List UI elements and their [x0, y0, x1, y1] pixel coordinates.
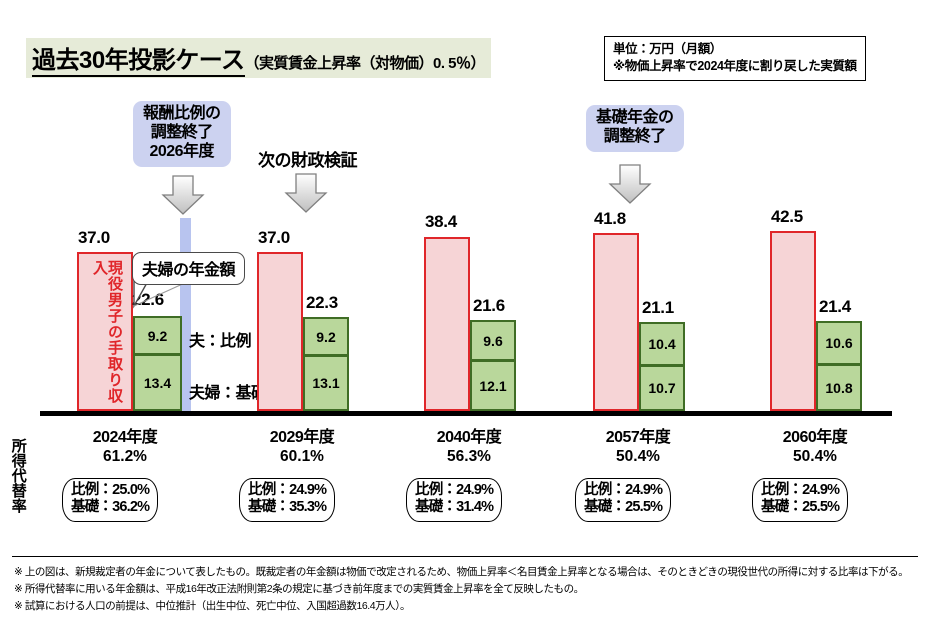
pink-bar-vertical-label: 現役男子の手取り収入: [92, 260, 122, 409]
ratebox-1: 比例：25.0% 基礎：36.2%: [62, 478, 158, 522]
ratebox-hirei-2: 比例：24.9%: [248, 482, 326, 499]
unit-note-box: 単位：万円（月額） ※物価上昇率で2024年度に割り戻した実質額: [604, 36, 866, 81]
bar-stack-1: 9.2 13.4: [133, 316, 182, 411]
callout-houshu-hirei: 報酬比例の 調整終了 2026年度: [133, 101, 231, 167]
chart-baseline: [40, 411, 892, 416]
bar-pink-1: 現役男子の手取り収入: [77, 252, 133, 411]
total-value-3: 21.6: [473, 296, 505, 316]
total-value-4: 21.1: [642, 298, 674, 318]
ratebox-hirei-1: 比例：25.0%: [71, 482, 149, 499]
pink-value-3: 38.4: [425, 212, 457, 232]
legend-upper: 夫：比例: [189, 327, 251, 351]
down-arrow-icon-2: [283, 172, 329, 214]
segment-upper-4: 10.4: [639, 322, 685, 366]
footnote-1: ※ 上の図は、新規裁定者の年金について表したもの。既裁定者の年金額は物価で改定さ…: [14, 564, 920, 581]
xlabel-5: 2060年度: [735, 423, 895, 447]
bar-pink-3: [424, 237, 470, 411]
bar-stack-2: 9.2 13.1: [303, 317, 349, 411]
unit-note-line-1: 単位：万円（月額）: [613, 41, 857, 58]
callout-kiso-nenkin: 基礎年金の 調整終了: [586, 105, 684, 152]
bar-stack-4: 10.4 10.7: [639, 322, 685, 411]
side-label-replacement-rate: 所得代替率: [10, 438, 26, 513]
down-arrow-icon-3: [607, 163, 653, 205]
xlabel-3: 2040年度: [389, 423, 549, 447]
xrate-total-5: 50.4%: [735, 448, 895, 466]
page-title: 過去30年投影ケース（実質賃金上昇率（対物価）0. 5％）: [26, 38, 491, 78]
pink-value-2: 37.0: [258, 228, 290, 248]
bubble-fufu-nenkin: 夫婦の年金額: [132, 252, 245, 285]
pension-projection-chart: 過去30年投影ケース（実質賃金上昇率（対物価）0. 5％） 単位：万円（月額） …: [0, 0, 930, 644]
title-sub-text: （実質賃金上昇率（対物価）0. 5％）: [245, 55, 486, 72]
ratebox-kiso-3: 基礎：31.4%: [415, 499, 493, 516]
callout-kiso-line-1: 基礎年金の: [596, 109, 674, 128]
legend-lower: 夫婦：基礎: [189, 379, 267, 403]
segment-lower-2: 13.1: [303, 356, 349, 411]
label-next-fiscal-verification: 次の財政検証: [258, 146, 357, 171]
bar-pink-4: [593, 233, 639, 411]
xlabel-2: 2029年度: [222, 423, 382, 447]
segment-upper-3: 9.6: [470, 320, 516, 361]
pink-value-5: 42.5: [771, 207, 803, 227]
segment-lower-3: 12.1: [470, 361, 516, 411]
footnote-2: ※ 所得代替率に用いる年金額は、平成16年改正法附則第2条の規定に基づき前年度ま…: [14, 581, 920, 598]
segment-lower-1: 13.4: [133, 355, 182, 411]
ratebox-hirei-3: 比例：24.9%: [415, 482, 493, 499]
xlabel-1: 2024年度: [45, 423, 205, 447]
footnote-divider: [12, 556, 918, 557]
bar-pink-2: [257, 252, 303, 411]
callout-houshu-line-2: 調整終了: [143, 124, 221, 143]
segment-upper-1: 9.2: [133, 316, 182, 355]
segment-upper-2: 9.2: [303, 317, 349, 356]
segment-lower-5: 10.8: [816, 365, 862, 411]
ratebox-kiso-2: 基礎：35.3%: [248, 499, 326, 516]
xrate-total-1: 61.2%: [45, 448, 205, 466]
unit-note-line-2: ※物価上昇率で2024年度に割り戻した実質額: [613, 58, 857, 75]
ratebox-5: 比例：24.9% 基礎：25.5%: [752, 478, 848, 522]
ratebox-kiso-4: 基礎：25.5%: [584, 499, 662, 516]
segment-lower-4: 10.7: [639, 366, 685, 411]
xlabel-4: 2057年度: [558, 423, 718, 447]
callout-houshu-line-1: 報酬比例の: [143, 105, 221, 124]
ratebox-4: 比例：24.9% 基礎：25.5%: [575, 478, 671, 522]
pink-value-4: 41.8: [594, 209, 626, 229]
ratebox-hirei-5: 比例：24.9%: [761, 482, 839, 499]
footnotes: ※ 上の図は、新規裁定者の年金について表したもの。既裁定者の年金額は物価で改定さ…: [14, 564, 920, 615]
ratebox-3: 比例：24.9% 基礎：31.4%: [406, 478, 502, 522]
bar-stack-5: 10.6 10.8: [816, 321, 862, 411]
xrate-total-2: 60.1%: [222, 448, 382, 466]
title-main-text: 過去30年投影ケース: [32, 47, 245, 77]
down-arrow-icon-1: [160, 174, 206, 216]
ratebox-2: 比例：24.9% 基礎：35.3%: [239, 478, 335, 522]
ratebox-kiso-1: 基礎：36.2%: [71, 499, 149, 516]
ratebox-kiso-5: 基礎：25.5%: [761, 499, 839, 516]
ratebox-hirei-4: 比例：24.9%: [584, 482, 662, 499]
pink-value-1: 37.0: [78, 228, 110, 248]
total-value-5: 21.4: [819, 297, 851, 317]
footnote-3: ※ 試算における人口の前提は、中位推計（出生中位、死亡中位、入国超過数16.4万…: [14, 598, 920, 615]
total-value-2: 22.3: [306, 293, 338, 313]
bar-stack-3: 9.6 12.1: [470, 320, 516, 411]
xrate-total-4: 50.4%: [558, 448, 718, 466]
callout-kiso-line-2: 調整終了: [596, 128, 674, 147]
callout-houshu-line-3: 2026年度: [143, 143, 221, 162]
xrate-total-3: 56.3%: [389, 448, 549, 466]
bar-pink-5: [770, 231, 816, 411]
segment-upper-5: 10.6: [816, 321, 862, 365]
